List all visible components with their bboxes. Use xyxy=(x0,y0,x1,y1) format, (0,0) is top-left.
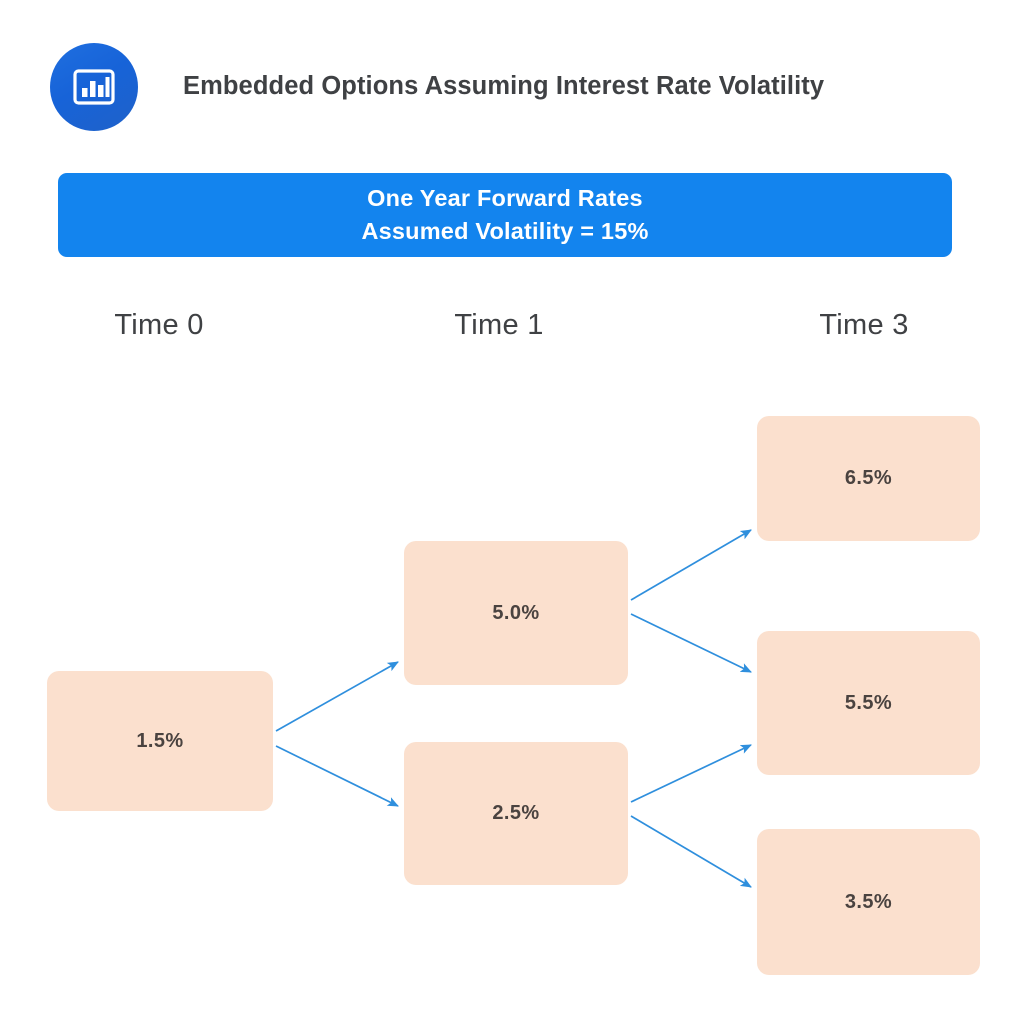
banner-line-2: Assumed Volatility = 15% xyxy=(361,215,648,248)
tree-node-time1-up[interactable]: 5.0% xyxy=(404,541,628,685)
tree-node-time1-down[interactable]: 2.5% xyxy=(404,742,628,885)
edge-t0-1-to-t1-2 xyxy=(276,746,398,806)
column-header-time-0: Time 0 xyxy=(59,309,259,342)
edge-t0-1-to-t1-1 xyxy=(276,662,398,731)
banner-line-1: One Year Forward Rates xyxy=(367,182,643,215)
tree-node-label: 6.5% xyxy=(845,467,892,490)
tree-node-time3-mid[interactable]: 5.5% xyxy=(757,631,980,775)
tree-node-label: 2.5% xyxy=(492,802,539,825)
tree-node-label: 5.5% xyxy=(845,692,892,715)
edge-t1-2-to-t3-2 xyxy=(631,745,751,802)
tree-node-time0-1[interactable]: 1.5% xyxy=(47,671,273,811)
tree-node-label: 3.5% xyxy=(845,891,892,914)
tree-node-time3-up[interactable]: 6.5% xyxy=(757,416,980,541)
edge-t1-1-to-t3-2 xyxy=(631,614,751,672)
tree-node-label: 5.0% xyxy=(492,602,539,625)
page-title: Embedded Options Assuming Interest Rate … xyxy=(183,68,973,104)
diagram-canvas: Embedded Options Assuming Interest Rate … xyxy=(0,0,1011,1024)
edge-t1-2-to-t3-3 xyxy=(631,816,751,887)
column-header-time-1: Time 1 xyxy=(399,309,599,342)
tree-node-time3-down[interactable]: 3.5% xyxy=(757,829,980,975)
assumption-banner: One Year Forward Rates Assumed Volatilit… xyxy=(58,173,952,257)
tree-node-label: 1.5% xyxy=(136,730,183,753)
bar-chart-icon xyxy=(50,43,138,131)
column-header-time-3: Time 3 xyxy=(764,309,964,342)
edge-t1-1-to-t3-1 xyxy=(631,530,751,600)
